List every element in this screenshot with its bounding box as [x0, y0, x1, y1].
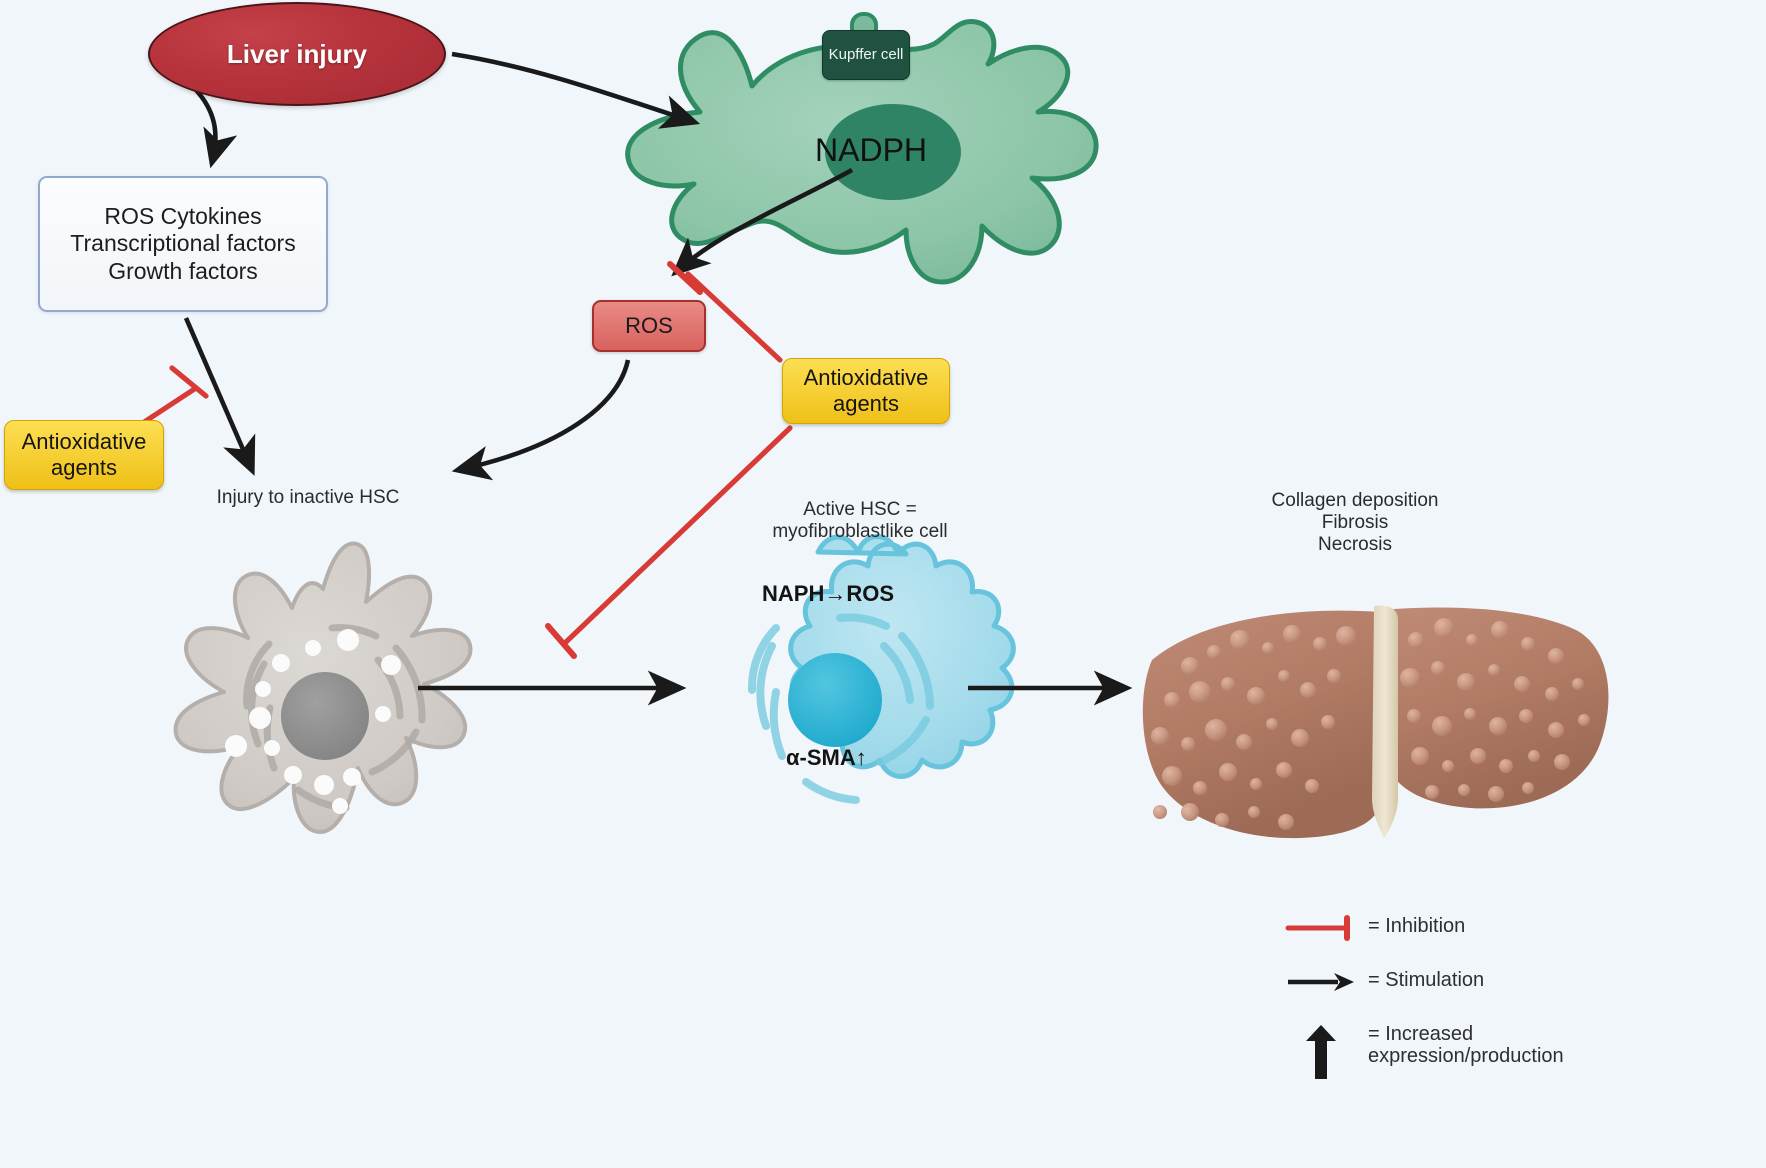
stimulation-arrow-icon	[1282, 969, 1360, 995]
legend-item-increased-expression-label: = Increased expression/production	[1360, 1023, 1564, 1068]
node-antioxidative-agents-right-label: Antioxidative agents	[783, 365, 949, 417]
inhibition-line-icon	[1282, 915, 1360, 941]
arrow-liver-injury-to-kupffer	[452, 54, 694, 122]
legend: = Inhibition = Stimulation = Increased e…	[1282, 915, 1756, 1099]
node-antioxidative-agents-left-label: Antioxidative agents	[5, 429, 163, 481]
caption-collagen-fibrosis-necrosis: Collagen deposition Fibrosis Necrosis	[1190, 490, 1520, 556]
caption-active-hsc: Active HSC = myofibroblastlike cell	[700, 499, 1020, 543]
arrow-liver-injury-to-mediators	[196, 90, 215, 162]
node-ros-label: ROS	[625, 313, 673, 339]
caption-injury-to-inactive-hsc: Injury to inactive HSC	[148, 487, 468, 509]
legend-item-increased-expression: = Increased expression/production	[1282, 1023, 1756, 1081]
diagram-canvas: Liver injury ROS Cytokines Transcription…	[0, 0, 1766, 1168]
node-mediators[interactable]: ROS Cytokines Transcriptional factors Gr…	[38, 176, 328, 312]
legend-item-stimulation: = Stimulation	[1282, 969, 1756, 1005]
node-liver-injury-label: Liver injury	[227, 39, 367, 70]
node-mediators-label: ROS Cytokines Transcriptional factors Gr…	[40, 203, 326, 284]
node-ros[interactable]: ROS	[592, 300, 706, 352]
node-antioxidative-agents-left[interactable]: Antioxidative agents	[4, 420, 164, 490]
active-hsc-label-alpha-sma: α-SMA↑	[786, 745, 867, 771]
legend-item-inhibition: = Inhibition	[1282, 915, 1756, 951]
active-hsc-label-naph-ros: NAPH→ROS	[762, 581, 894, 607]
active-hsc-nucleus	[788, 653, 882, 747]
legend-item-stimulation-label: = Stimulation	[1360, 969, 1484, 991]
up-arrow-icon	[1282, 1023, 1360, 1081]
node-kupffer-cell-label-text: Kupffer cell	[829, 47, 904, 64]
cirrhotic-liver-illustration	[1143, 606, 1609, 839]
arrow-mediators-to-inactive-hsc	[186, 318, 252, 470]
inactive-hsc-nucleus	[281, 672, 369, 760]
kupffer-nucleus-label: NADPH	[815, 132, 927, 169]
arrow-ros-to-inactive-hsc	[458, 360, 628, 470]
legend-item-inhibition-label: = Inhibition	[1360, 915, 1465, 937]
node-kupffer-cell-label[interactable]: Kupffer cell	[822, 30, 910, 80]
node-liver-injury[interactable]: Liver injury	[148, 2, 446, 106]
node-antioxidative-agents-right[interactable]: Antioxidative agents	[782, 358, 950, 424]
